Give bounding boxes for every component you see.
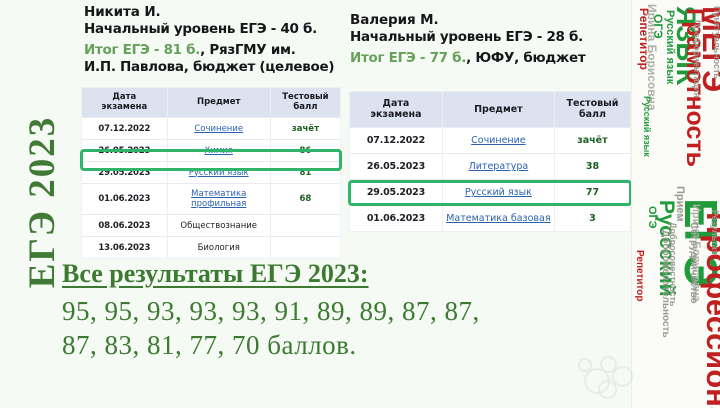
student-1-start-level: Начальный уровень ЕГЭ - 40 б. [84,21,346,38]
all-results-title: Все результаты ЕГЭ 2023: [62,258,622,289]
wordcloud-word: Профориентация [692,20,701,98]
table-row: 26.05.2023Химия86 [82,140,340,162]
column-header-subject-line1: Предмет [170,97,268,107]
column-header-date-line1: Дата [352,98,440,109]
wordcloud-word: Прием [674,186,685,222]
cell-test-score: 3 [554,206,630,232]
cell-test-score: 68 [270,184,340,215]
wordcloud-word: Русский язык [642,96,651,157]
all-results-scores-line1: 95, 95, 93, 93, 93, 91, 89, 89, 87, 87, [62,294,622,328]
column-header-score: Тестовый балл [270,88,340,118]
column-header-subject: Предмет [442,92,554,128]
student-2-name: Валерия М. [350,12,630,29]
column-header-score-line2: балл [273,102,338,112]
table-header-row: Дата экзамена Предмет Тестовый балл [82,88,340,118]
score-table-student-2: Дата экзамена Предмет Тестовый балл 07.1… [350,92,630,231]
table-header-row: Дата экзамена Предмет Тестовый балл [350,92,630,128]
score-table-student-1: Дата экзамена Предмет Тестовый балл 07.1… [82,88,340,258]
student-block-1: Никита И. Начальный уровень ЕГЭ - 40 б. … [84,4,346,76]
cell-exam-date: 07.12.2022 [82,118,167,140]
subject-link[interactable]: Сочинение [194,124,243,134]
table-row: 07.12.2022Сочинениезачёт [82,118,340,140]
slide-canvas: ЕГЭ 2023 Никита И. Начальный уровень ЕГЭ… [0,0,720,408]
table-row: 07.12.2022Сочинениезачёт [350,128,630,154]
column-header-score: Тестовый балл [554,92,630,128]
cell-exam-date: 07.12.2022 [350,128,442,154]
cell-subject: Биология [167,237,270,259]
table-row: 13.06.2023Биология [82,237,340,259]
wordcloud-word: Пунктуальность [712,6,720,79]
subject-link[interactable]: Математика профильная [191,189,246,209]
student-1-result: Итог ЕГЭ - 81 б., РязГМУ им. И.П. Павлов… [84,42,346,76]
cell-test-score: 86 [270,140,340,162]
subject-text: Биология [198,243,240,253]
cell-exam-date: 26.05.2023 [350,154,442,180]
cell-subject[interactable]: Русский язык [442,180,554,206]
wordcloud-word: Русский язык [664,10,675,84]
subject-text: Обществознание [180,221,257,231]
student-1-name: Никита И. [84,4,346,21]
subject-link[interactable]: Химия [205,146,233,156]
student-2-start-level: Начальный уровень ЕГЭ - 28 б. [350,29,630,46]
table-row: 01.06.2023Математика профильная68 [82,184,340,215]
student-1-result-university: , РязГМУ им. [200,42,295,58]
score-table-1-body: 07.12.2022Сочинениезачёт26.05.2023Химия8… [82,118,340,259]
cell-subject[interactable]: Литература [442,154,554,180]
subject-link[interactable]: Сочинение [471,135,526,146]
student-1-result-score: Итог ЕГЭ - 81 б. [84,42,200,58]
column-header-date: Дата экзамена [82,88,167,118]
column-header-date-line2: экзамена [84,102,165,112]
student-2-result-score: Итог ЕГЭ - 77 б. [350,50,466,66]
cell-exam-date: 26.05.2023 [82,140,167,162]
cell-test-score: зачёт [270,118,340,140]
cell-subject[interactable]: Русский язык [167,162,270,184]
student-2-result: Итог ЕГЭ - 77 б., ЮФУ, бюджет [350,50,630,67]
column-header-subject-line1: Предмет [445,104,552,115]
cell-subject[interactable]: Химия [167,140,270,162]
student-block-2: Валерия М. Начальный уровень ЕГЭ - 28 б.… [350,12,630,67]
score-table-2-body: 07.12.2022Сочинениезачёт26.05.2023Литера… [350,128,630,232]
column-header-score-line1: Тестовый [273,92,338,102]
cell-test-score: 81 [270,162,340,184]
cell-subject[interactable]: Сочинение [167,118,270,140]
table-row: 29.05.2023Русский язык77 [350,180,630,206]
vertical-title-ege-2023: ЕГЭ 2023 [21,107,65,297]
cell-test-score [270,237,340,259]
subject-link[interactable]: Русский язык [465,187,532,198]
cell-subject[interactable]: Математика профильная [167,184,270,215]
wordcloud-word: Ирина Борисовна [646,4,658,111]
column-header-date-line1: Дата [84,92,165,102]
wordcloud-word: Репетитор [634,250,644,301]
wordcloud-word: Сотрудничество [688,222,698,304]
cell-test-score: зачёт [554,128,630,154]
cell-exam-date: 01.06.2023 [350,206,442,232]
cell-exam-date: 29.05.2023 [350,180,442,206]
column-header-date-line2: экзамена [352,109,440,120]
cell-exam-date: 29.05.2023 [82,162,167,184]
column-header-date: Дата экзамена [350,92,442,128]
column-header-score-line1: Тестовый [557,98,628,109]
column-header-subject: Предмет [167,88,270,118]
cell-subject[interactable]: Математика базовая [442,206,554,232]
cell-exam-date: 01.06.2023 [82,184,167,215]
wordcloud-word: Добросовестность [668,222,677,306]
wordcloud-word: Результат [710,210,719,254]
student-2-result-university: , ЮФУ, бюджет [466,50,585,66]
wordcloud-word: ОГЭ [646,206,657,229]
all-results-scores: 95, 95, 93, 93, 93, 91, 89, 89, 87, 87, … [62,294,622,362]
wordcloud-strip: ЕГЭМЕГЭЯЗЫКГрамотностьПрофессионализмРус… [631,0,720,408]
table-row: 29.05.2023Русский язык81 [82,162,340,184]
student-1-result-line2: И.П. Павлова, бюджет (целевое) [84,59,346,76]
cell-exam-date: 08.06.2023 [82,215,167,237]
cell-subject: Обществознание [167,215,270,237]
all-results-block: Все результаты ЕГЭ 2023: 95, 95, 93, 93,… [62,258,622,362]
cell-subject[interactable]: Сочинение [442,128,554,154]
cell-test-score: 77 [554,180,630,206]
subject-link[interactable]: Литература [469,161,529,172]
table-row: 01.06.2023Математика базовая3 [350,206,630,232]
subject-link[interactable]: Математика базовая [446,213,550,224]
subject-link[interactable]: Русский язык [189,168,249,178]
column-header-score-line2: балл [557,109,628,120]
table-row: 26.05.2023Литература38 [350,154,630,180]
cell-test-score: 38 [554,154,630,180]
cell-exam-date: 13.06.2023 [82,237,167,259]
cell-test-score [270,215,340,237]
all-results-scores-line2: 87, 83, 81, 77, 70 баллов. [62,328,622,362]
table-row: 08.06.2023Обществознание [82,215,340,237]
